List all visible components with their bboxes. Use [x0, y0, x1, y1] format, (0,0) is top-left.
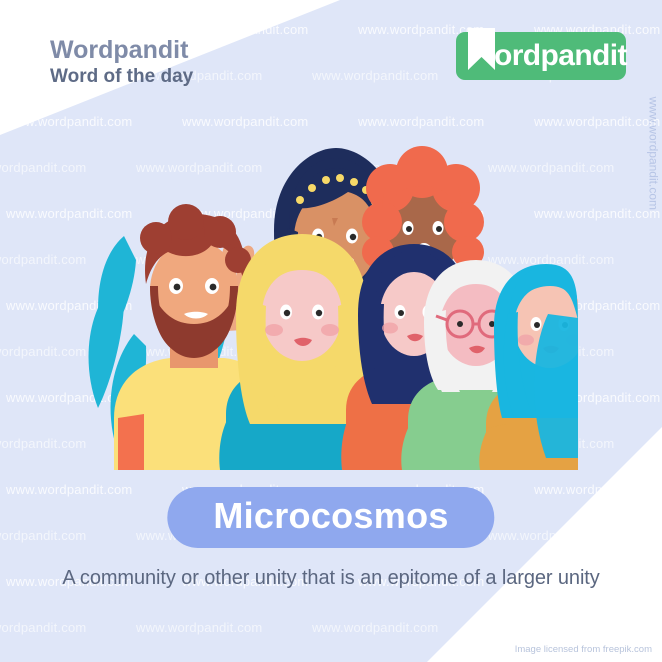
- watermark-text: www.wordpandit.com: [0, 528, 86, 543]
- word-definition: A community or other unity that is an ep…: [0, 567, 662, 590]
- watermark-text: www.wordpandit.com: [0, 252, 86, 267]
- leaf-front-right: [534, 314, 578, 458]
- watermark-text: www.wordpandit.com: [136, 620, 262, 635]
- logo-text: ordpandit: [494, 39, 627, 73]
- watermark-text: www.wordpandit.com: [0, 436, 86, 451]
- word-of-the-day-card: www.wordpandit.comwww.wordpandit.comwww.…: [0, 0, 662, 662]
- watermark-text: www.wordpandit.com: [0, 344, 86, 359]
- word-badge: Microcosmos: [167, 487, 494, 548]
- wordpandit-logo[interactable]: ordpandit: [456, 32, 626, 80]
- illustration-diverse-group: [78, 118, 578, 470]
- watermark-text: www.wordpandit.com: [312, 620, 438, 635]
- watermark-text: www.wordpandit.com: [6, 482, 132, 497]
- word-term: Microcosmos: [213, 498, 448, 534]
- watermark-text: www.wordpandit.com: [0, 160, 86, 175]
- image-credit: Image licensed from freepik.com: [515, 644, 652, 655]
- watermark-text: www.wordpandit.com: [312, 68, 438, 83]
- vertical-watermark: www.wordpandit.com: [646, 97, 660, 210]
- watermark-text: www.wordpandit.com: [0, 620, 86, 635]
- page-subtitle: Word of the day: [50, 66, 193, 89]
- bookmark-w-icon: [468, 28, 495, 70]
- brand-title: Wordpandit: [50, 36, 193, 64]
- header-block: Wordpandit Word of the day: [50, 36, 193, 89]
